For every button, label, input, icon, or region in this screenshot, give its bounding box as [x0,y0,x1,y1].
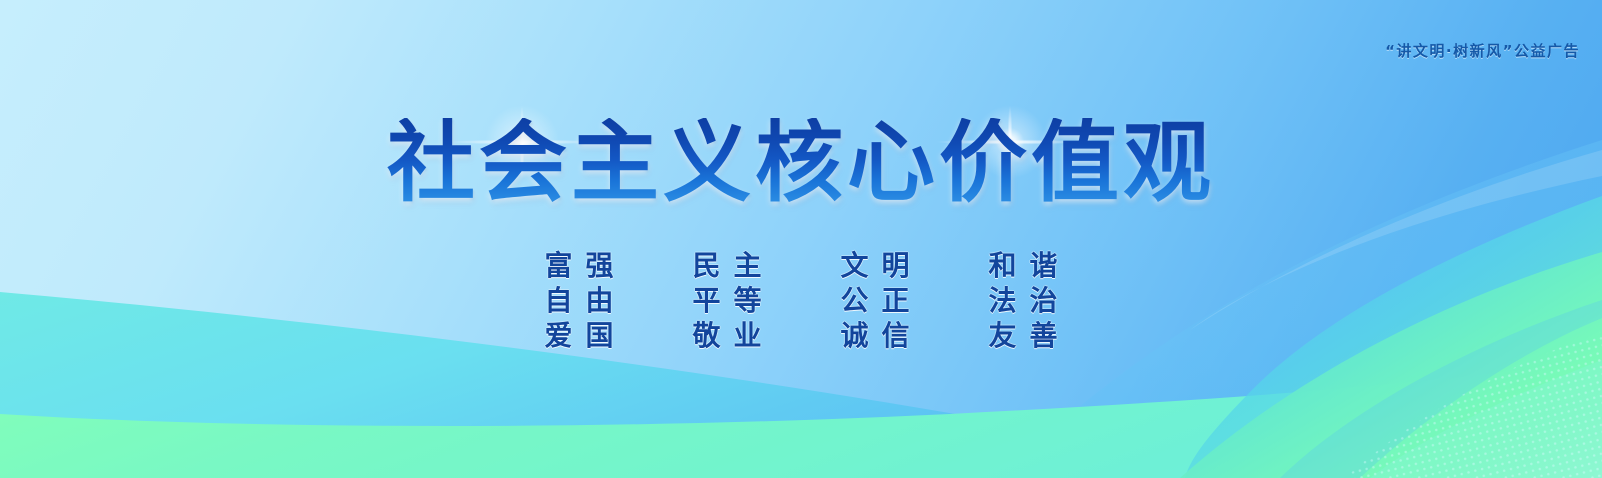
core-value-item: 敬业 [653,316,801,351]
public-service-ad-kicker: “讲文明·树新风”公益广告 [1385,40,1580,61]
core-value-item: 文明 [801,246,949,281]
core-value-item: 民主 [653,246,801,281]
core-value-item: 诚信 [801,316,949,351]
core-value-item: 和谐 [949,246,1097,281]
core-value-item: 爱国 [505,316,653,351]
core-values-grid: 富强 民主 文明 和谐 自由 平等 公正 法治 爱国 敬业 诚信 友善 [505,246,1097,351]
core-value-item: 富强 [505,246,653,281]
core-value-item: 自由 [505,281,653,316]
socialist-core-values-banner: “讲文明·树新风”公益广告 社会主义核心价值观社会主义核心价值观 富强 民主 文… [0,0,1602,478]
background-wave-artwork [0,0,1602,478]
core-value-item: 法治 [949,281,1097,316]
core-value-item: 公正 [801,281,949,316]
core-values-block: 富强 民主 文明 和谐 自由 平等 公正 法治 爱国 敬业 诚信 友善 [0,246,1602,351]
core-value-item: 友善 [949,316,1097,351]
core-value-item: 平等 [653,281,801,316]
